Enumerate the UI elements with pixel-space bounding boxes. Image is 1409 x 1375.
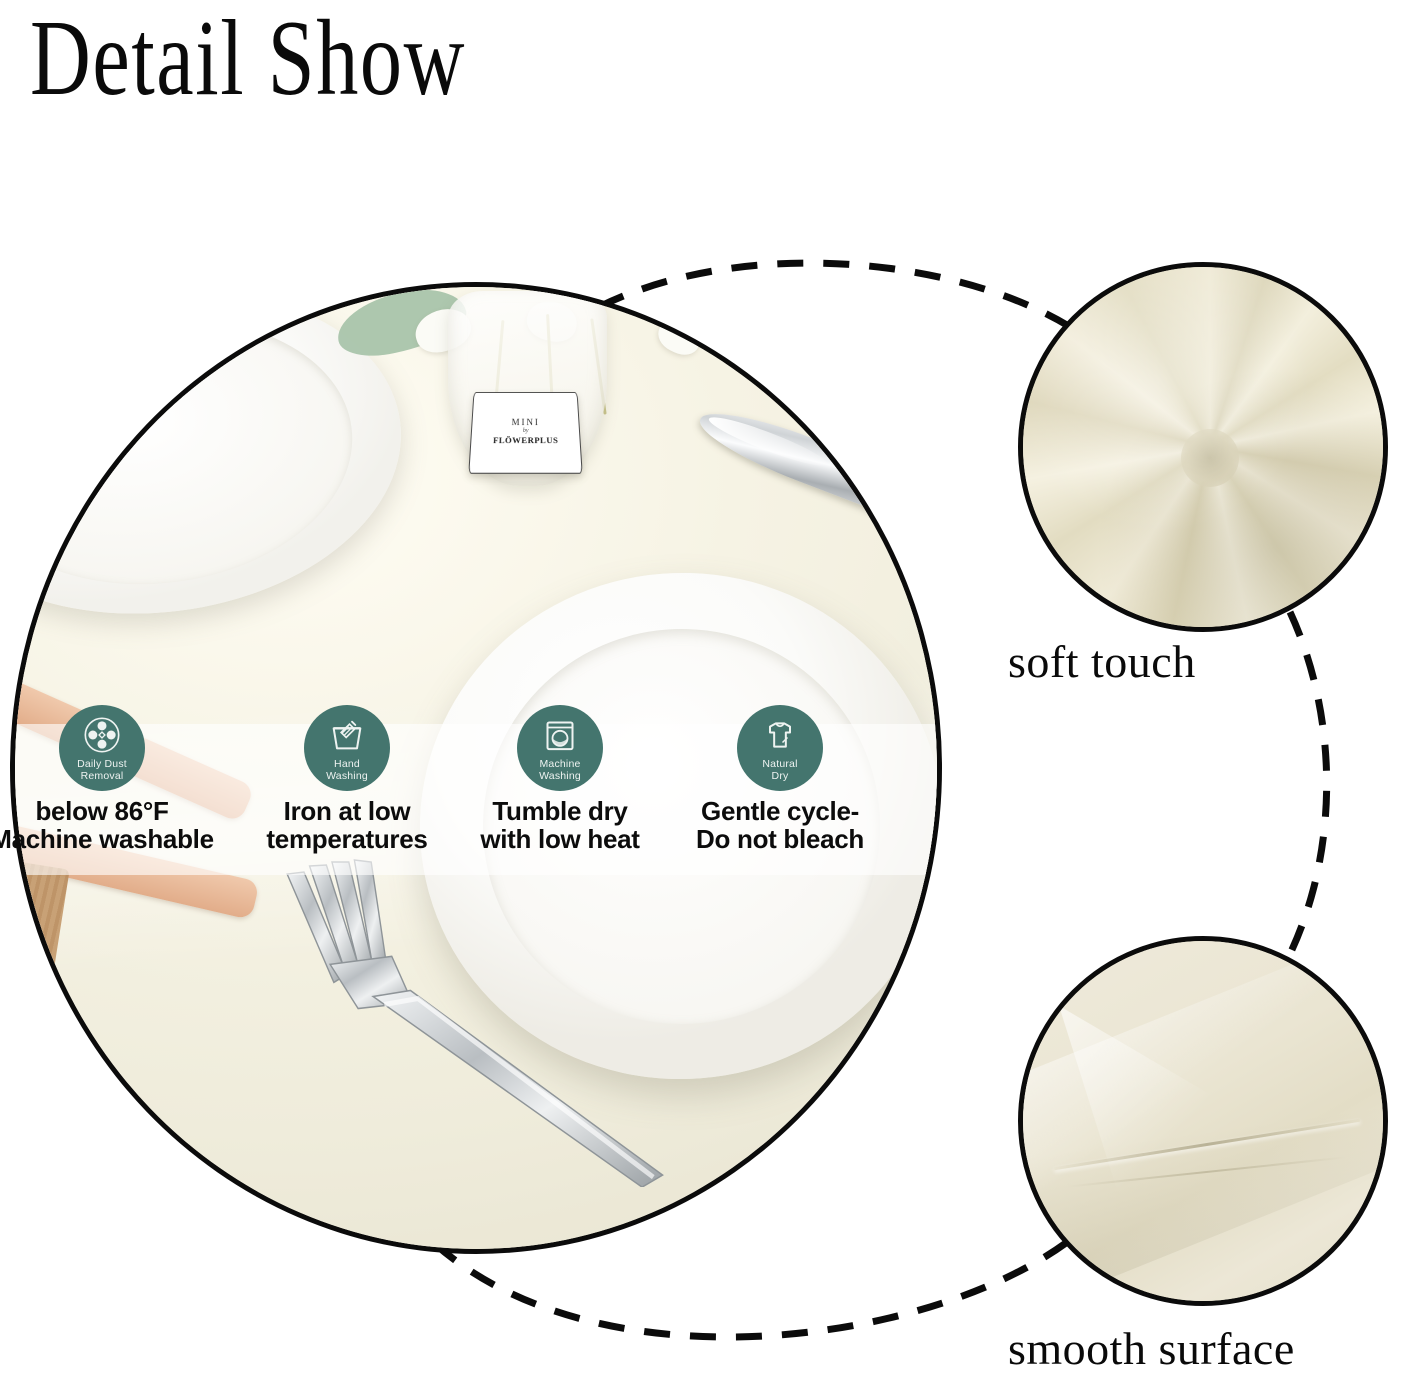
soft-touch-label: soft touch: [1008, 635, 1196, 688]
badge-label-line1: Daily Dust: [77, 759, 127, 771]
badge-label-line1: Hand: [334, 759, 360, 771]
dashed-arc-bottom: [435, 1240, 1070, 1337]
badge-label-line2: Removal: [81, 771, 124, 783]
machine-washing-icon: Machine Washing: [517, 705, 603, 791]
badge-label-line2: Dry: [772, 771, 789, 783]
natural-dry-icon: Natural Dry: [737, 705, 823, 791]
care-caption: below 86°F Machine washable: [0, 797, 214, 853]
smooth-surface-label: smooth surface: [1008, 1322, 1295, 1375]
daily-dust-removal-icon: Daily Dust Removal: [59, 705, 145, 791]
care-item-machine-washing: Machine Washing Tumble dry with low heat: [448, 705, 672, 853]
vase-tag-line2: by: [523, 428, 529, 434]
care-item-natural-dry: Natural Dry Gentle cycle- Do not bleach: [668, 705, 892, 853]
badge-label-line2: Washing: [326, 771, 368, 783]
dashed-arc-right: [1283, 612, 1327, 968]
badge-label-line1: Machine: [539, 759, 580, 771]
care-instruction-row: Daily Dust Removal below 86°F Machine wa…: [0, 705, 942, 885]
care-item-hand-washing: Hand Washing Iron at low temperatures: [235, 705, 459, 853]
care-caption: Gentle cycle- Do not bleach: [668, 797, 892, 853]
dinner-fork: [261, 856, 691, 1187]
swirl-shading: [1023, 267, 1383, 627]
page-title: Detail Show: [30, 2, 466, 115]
badge-label-line1: Natural: [762, 759, 797, 771]
care-caption: Tumble dry with low heat: [448, 797, 672, 853]
badge-label-line2: Washing: [539, 771, 581, 783]
vase-tag-line3: FLÖWERPLUS: [493, 435, 559, 445]
smooth-surface-fabric-circle: [1018, 936, 1388, 1306]
vase-hang-tag: MINI by FLÖWERPLUS: [469, 392, 584, 474]
vase-tag-line1: MINI: [512, 417, 540, 427]
detail-show-page: Detail Show MINI by FLÖWERPLUS: [0, 0, 1409, 1374]
hand-washing-icon: Hand Washing: [304, 705, 390, 791]
care-item-daily-dust-removal: Daily Dust Removal below 86°F Machine wa…: [0, 705, 214, 853]
care-caption: Iron at low temperatures: [235, 797, 459, 853]
soft-touch-fabric-circle: [1018, 262, 1388, 632]
